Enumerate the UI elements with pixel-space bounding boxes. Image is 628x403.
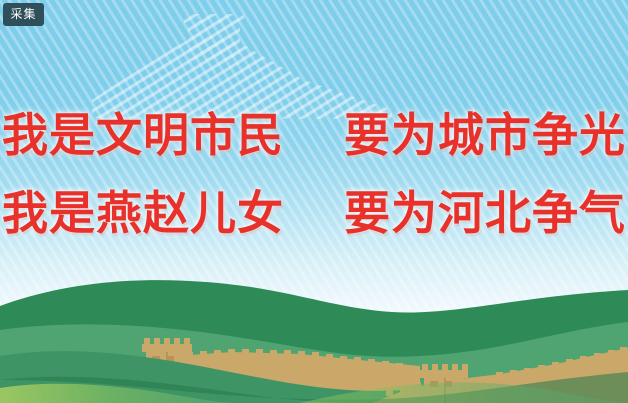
slogan-line-1-right: 要为城市争光	[344, 96, 626, 174]
landscape-illustration	[0, 268, 628, 403]
poster-image: 我是文明市民 要为城市争光 我是燕赵儿女 要为河北争气 采集	[0, 0, 628, 403]
slogan-line-2: 我是燕赵儿女 要为河北争气	[0, 174, 628, 252]
slogan-block: 我是文明市民 要为城市争光 我是燕赵儿女 要为河北争气	[0, 96, 628, 252]
capture-button[interactable]: 采集	[3, 3, 44, 26]
slogan-line-1-left: 我是文明市民	[2, 96, 284, 174]
slogan-line-1: 我是文明市民 要为城市争光	[0, 96, 628, 174]
slogan-line-2-right: 要为河北争气	[344, 174, 626, 252]
slogan-line-2-left: 我是燕赵儿女	[2, 174, 284, 252]
